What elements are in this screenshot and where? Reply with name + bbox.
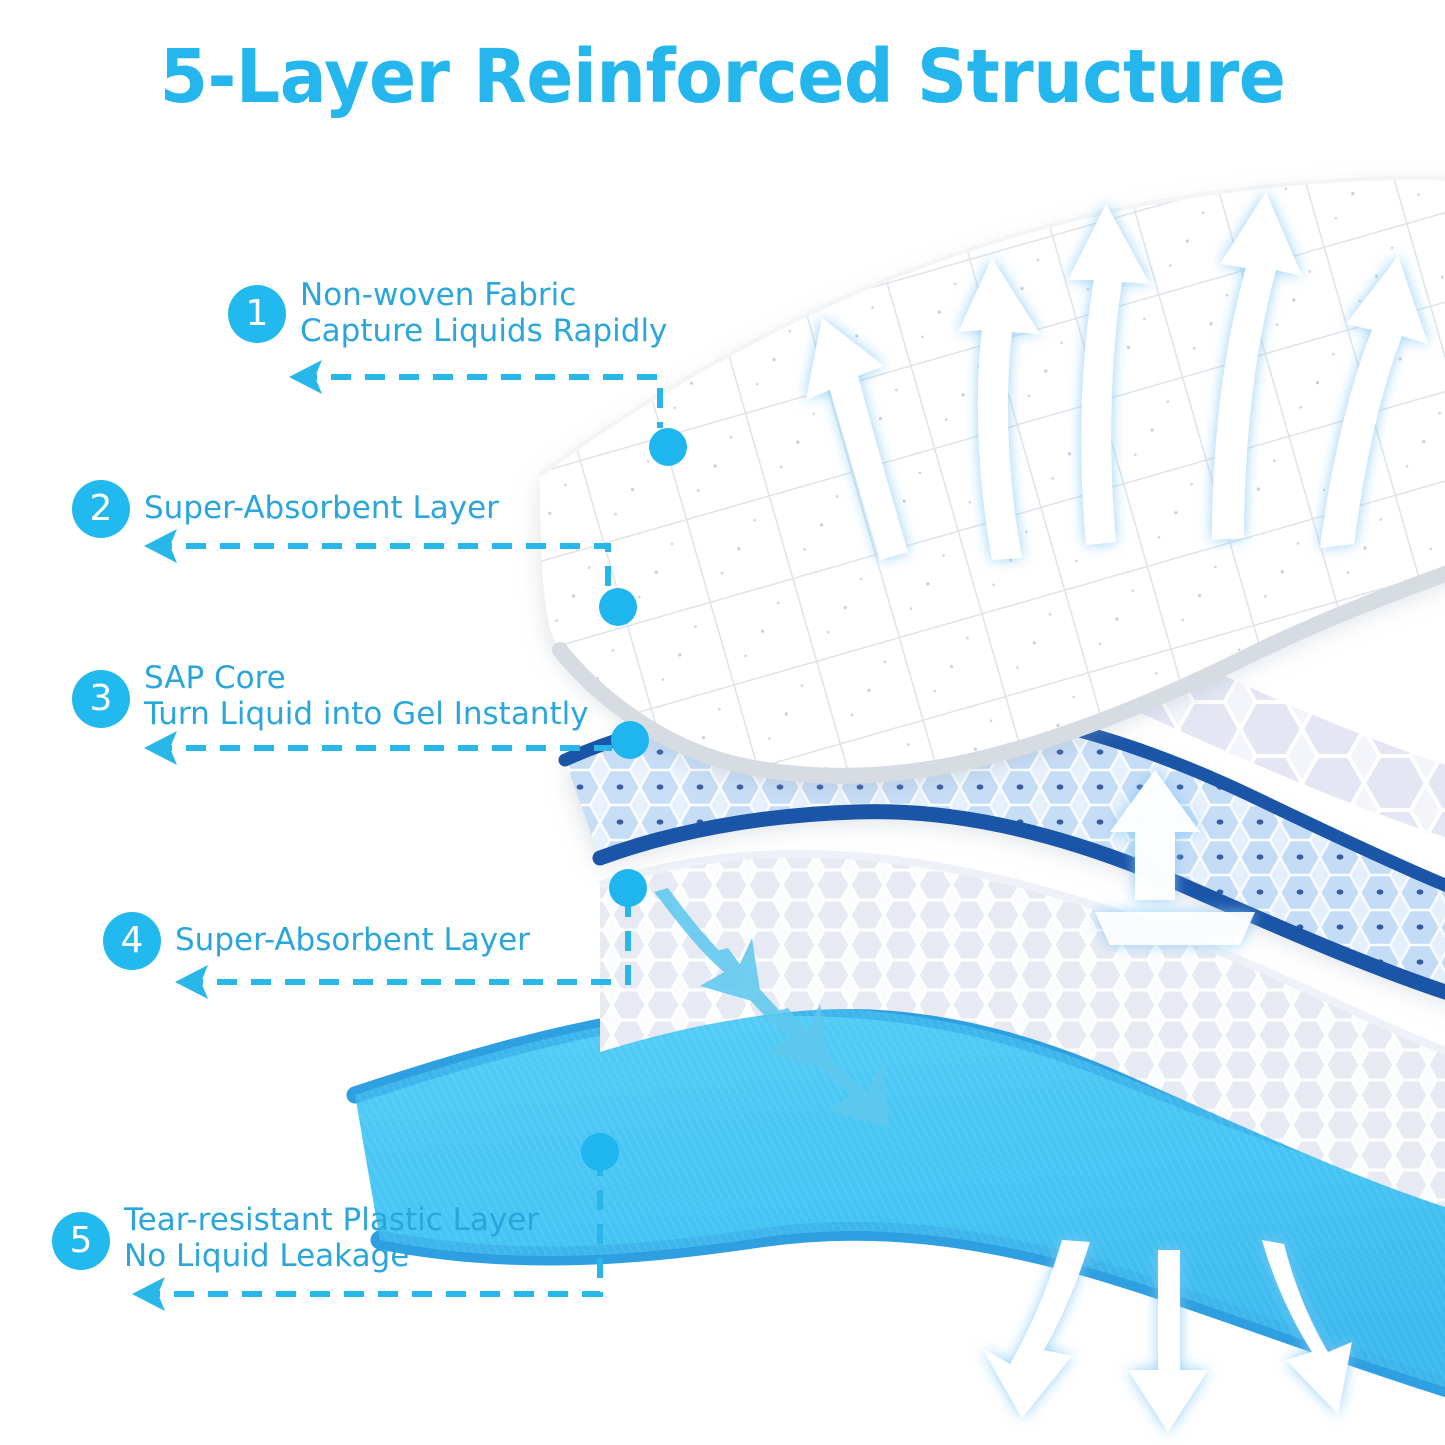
- callout-5-line2: No Liquid Leakage: [124, 1238, 539, 1274]
- callout-1-badge: 1: [228, 285, 286, 343]
- callout-5-text: Tear-resistant Plastic Layer No Liquid L…: [124, 1202, 539, 1274]
- callout-1-line1: Non-woven Fabric: [300, 277, 576, 313]
- callout-2-line1: Super-Absorbent Layer: [144, 490, 499, 526]
- callout-4-text: Super-Absorbent Layer: [175, 922, 530, 958]
- callout-3-badge: 3: [72, 670, 130, 728]
- callout-3-line1: SAP Core: [144, 660, 286, 696]
- callout-5-line1: Tear-resistant Plastic Layer: [124, 1202, 539, 1238]
- callout-5-badge: 5: [52, 1212, 110, 1270]
- callout-2-badge: 2: [72, 480, 130, 538]
- callout-1-text: Non-woven Fabric Capture Liquids Rapidly: [300, 277, 667, 349]
- callout-2-text: Super-Absorbent Layer: [144, 490, 499, 526]
- callout-4-line1: Super-Absorbent Layer: [175, 922, 530, 958]
- callout-1-line2: Capture Liquids Rapidly: [300, 313, 667, 349]
- callout-3-line2: Turn Liquid into Gel Instantly: [144, 696, 589, 732]
- infographic-canvas: 5-Layer Reinforced Structure: [0, 0, 1445, 1445]
- callout-3-text: SAP Core Turn Liquid into Gel Instantly: [144, 660, 589, 732]
- callout-4-badge: 4: [103, 912, 161, 970]
